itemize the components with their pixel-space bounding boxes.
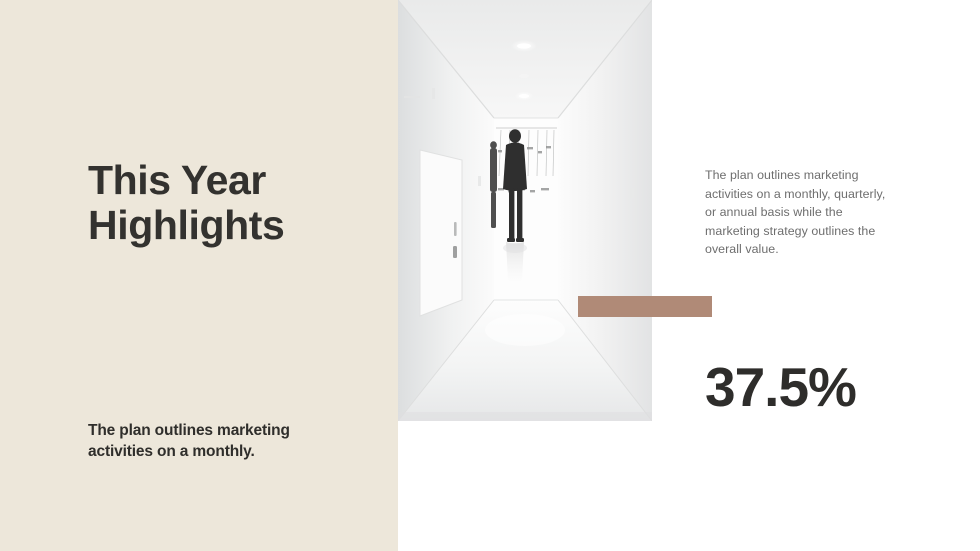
- page-title: This Year Highlights: [88, 158, 378, 248]
- gallery-corridor-photo: [398, 0, 652, 421]
- stat-value: 37.5%: [705, 358, 856, 416]
- door-lock-icon: [453, 246, 457, 258]
- far-wall: [494, 118, 558, 300]
- right-body-paragraph: The plan outlines marketing activities o…: [705, 166, 887, 259]
- ceiling-light-1-core: [517, 43, 531, 48]
- secondary-figure: [490, 141, 497, 228]
- ceiling-vent: [519, 74, 529, 78]
- slide-canvas: This Year Highlights The plan outlines m…: [0, 0, 980, 551]
- left-wall-door: [420, 150, 462, 316]
- left-caption-text: The plan outlines marketing activities o…: [88, 420, 340, 462]
- left-cream-panel: [0, 0, 398, 551]
- accent-bar: [578, 296, 712, 317]
- door-handle: [454, 222, 457, 236]
- photo-illustration: [398, 0, 652, 421]
- ceiling-light-2-core: [519, 94, 529, 98]
